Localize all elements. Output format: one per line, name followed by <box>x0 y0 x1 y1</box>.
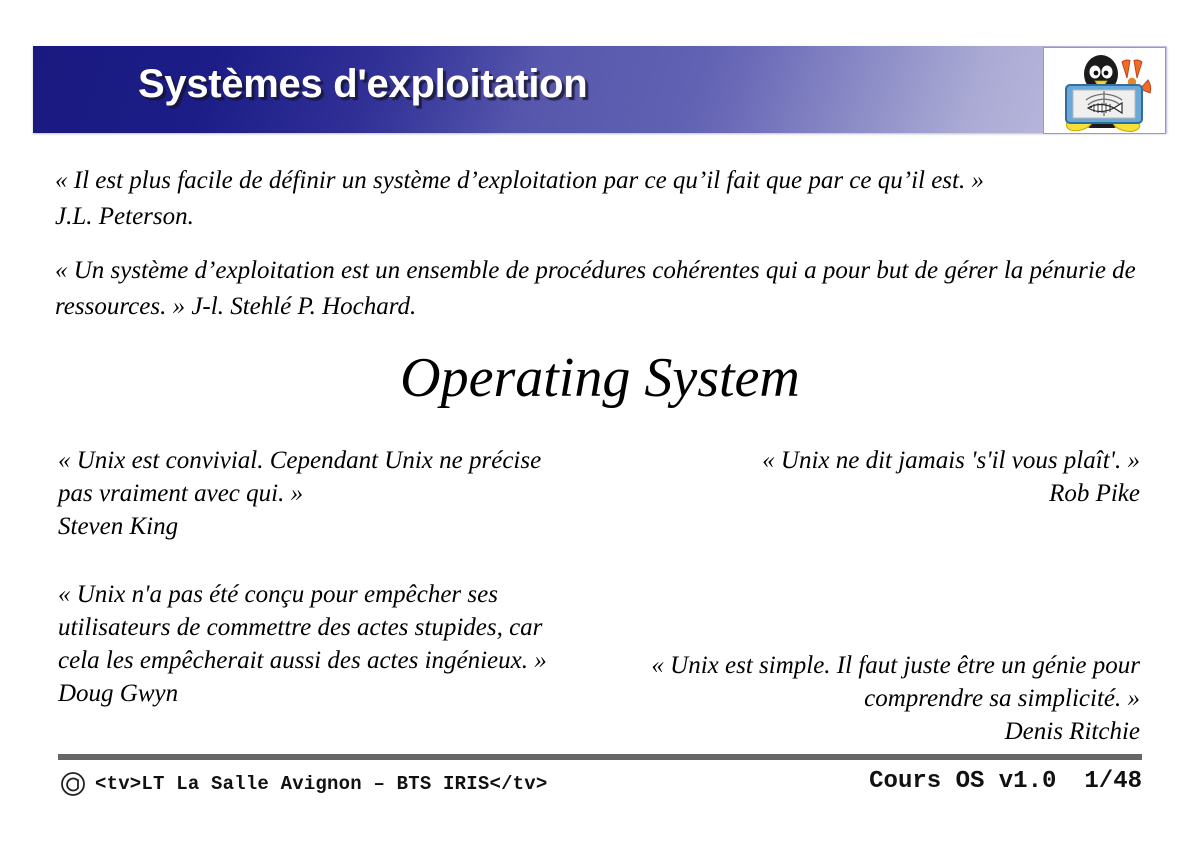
quote-peterson: « Il est plus facile de définir un systè… <box>55 163 1155 235</box>
footer-left: <tv>LT La Salle Avignon – BTS IRIS</tv> <box>60 771 547 797</box>
quote-steven-king-attribution: Steven King <box>58 513 178 540</box>
quote-doug-gwyn-text: « Unix n'a pas été conçu pour empêcher s… <box>58 581 547 674</box>
quote-denis-ritchie-attribution: Denis Ritchie <box>1005 718 1140 745</box>
quote-doug-gwyn: « Unix n'a pas été conçu pour empêcher s… <box>58 578 558 710</box>
tux-xray-logo <box>1043 47 1166 134</box>
quote-steven-king-text: « Unix est convivial. Cependant Unix ne … <box>58 447 541 507</box>
quote-rob-pike: « Unix ne dit jamais 's'il vous plaît'. … <box>640 444 1140 510</box>
footer-course: Cours OS v1.0 <box>869 768 1056 795</box>
slide: Systèmes d'exploitation <box>0 0 1200 848</box>
operating-system-heading: Operating System <box>0 346 1200 410</box>
quote-stehle-hochard: « Un système d’exploitation est un ensem… <box>55 253 1155 325</box>
footer-organisation: <tv>LT La Salle Avignon – BTS IRIS</tv> <box>95 773 547 795</box>
quote-steven-king: « Unix est convivial. Cependant Unix ne … <box>58 444 558 543</box>
footer-page-number: 1/48 <box>1084 768 1142 795</box>
footer-divider <box>58 754 1142 760</box>
quote-stehle-hochard-text: « Un système d’exploitation est un ensem… <box>55 257 1136 320</box>
quote-peterson-text: « Il est plus facile de définir un systè… <box>55 167 984 194</box>
quote-denis-ritchie: « Unix est simple. Il faut juste être un… <box>640 649 1140 748</box>
page-title: Systèmes d'exploitation <box>138 62 587 107</box>
quote-peterson-attribution: J.L. Peterson. <box>55 203 194 230</box>
quote-denis-ritchie-text: « Unix est simple. Il faut juste être un… <box>651 652 1140 712</box>
quote-doug-gwyn-attribution: Doug Gwyn <box>58 680 178 707</box>
quote-rob-pike-attribution: Rob Pike <box>1049 480 1140 507</box>
quote-rob-pike-text: « Unix ne dit jamais 's'il vous plaît'. … <box>762 447 1140 474</box>
circle-spiral-icon <box>60 771 86 797</box>
footer-right: Cours OS v1.0 1/48 <box>869 768 1142 795</box>
